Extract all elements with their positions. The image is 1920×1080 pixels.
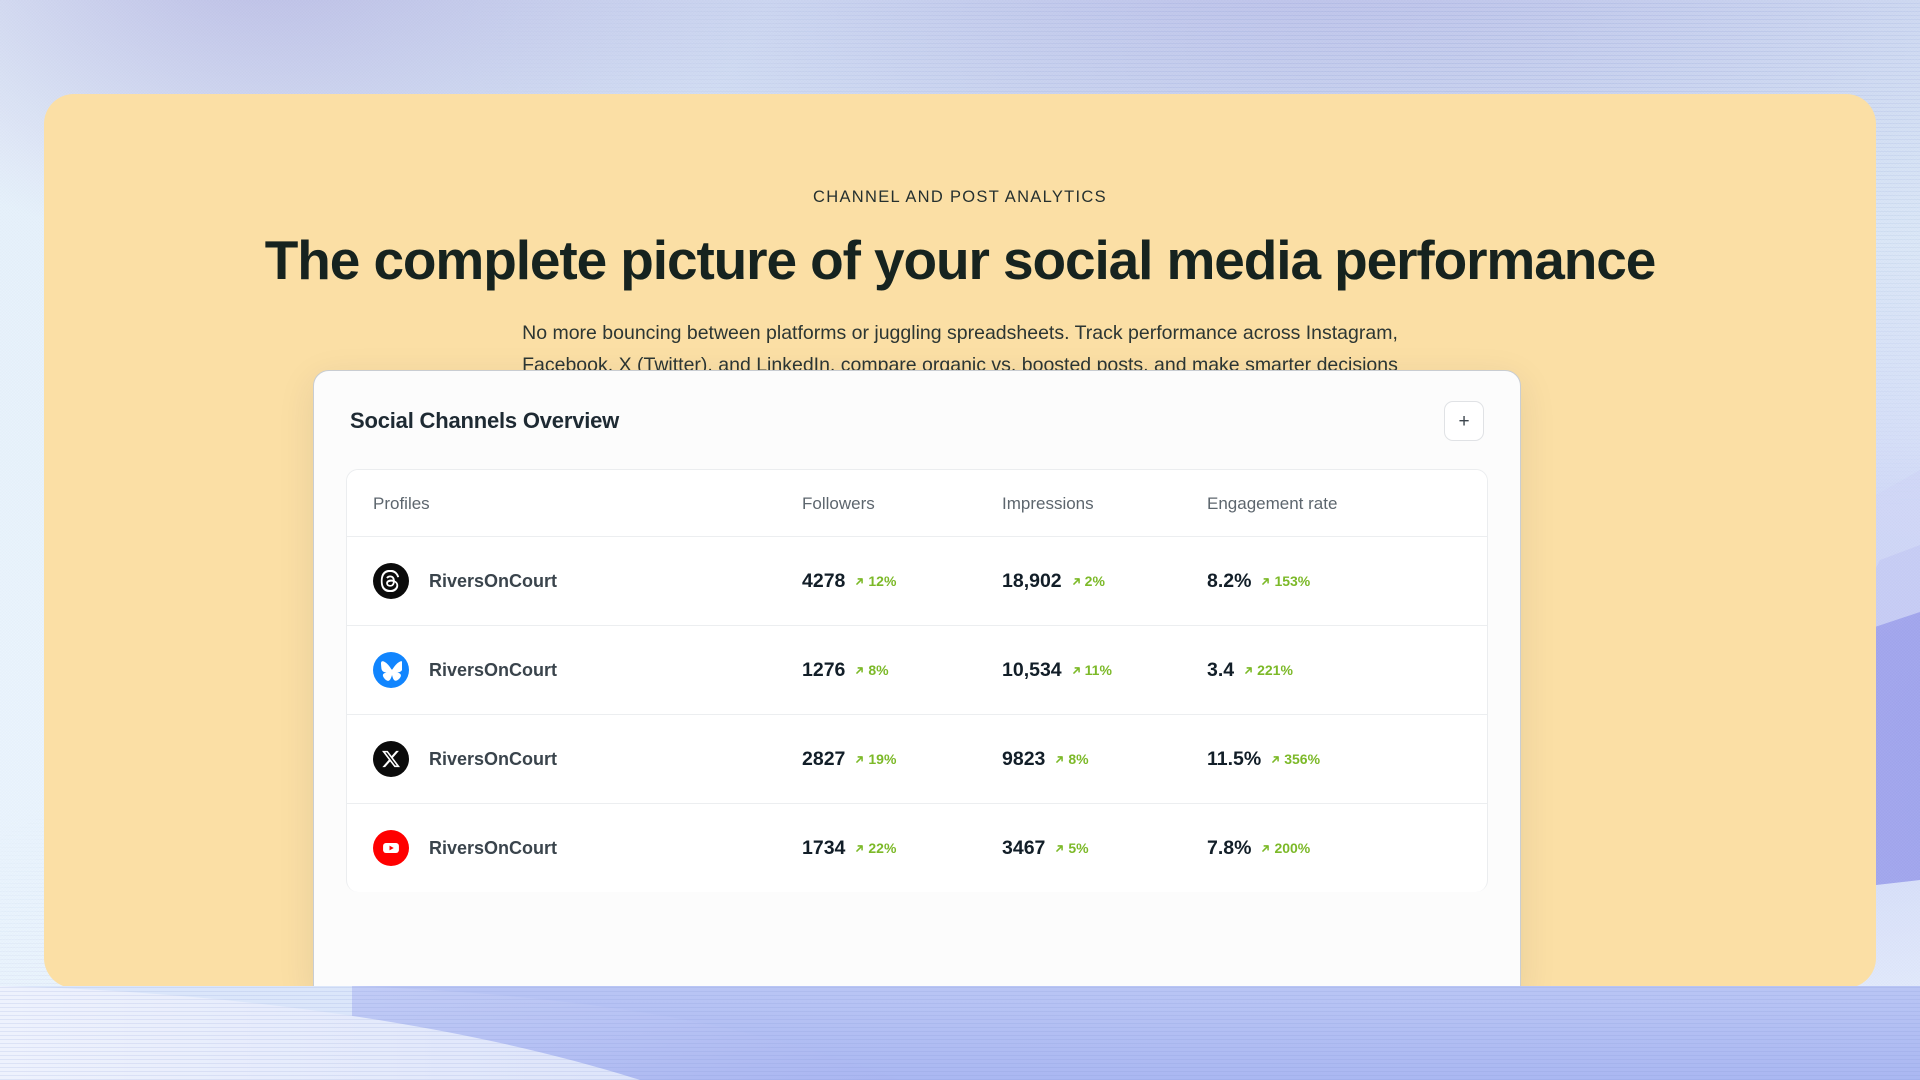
table-header-row: Profiles Followers Impressions Engagemen… xyxy=(347,470,1487,537)
trend-up-icon xyxy=(1054,754,1065,765)
engagement-delta-text: 356% xyxy=(1284,751,1320,767)
trend-up-icon xyxy=(1270,754,1281,765)
engagement-delta-text: 200% xyxy=(1274,840,1310,856)
dashboard-title: Social Channels Overview xyxy=(350,408,619,434)
engagement-delta: 221% xyxy=(1243,662,1293,678)
engagement-delta: 153% xyxy=(1260,573,1310,589)
engagement-value: 11.5% xyxy=(1207,748,1261,771)
profile-name: RiversOnCourt xyxy=(429,660,557,681)
youtube-icon xyxy=(373,830,409,866)
trend-up-icon xyxy=(1071,665,1082,676)
impressions-delta-text: 5% xyxy=(1068,840,1088,856)
impressions-value: 3467 xyxy=(1002,837,1045,860)
add-channel-button[interactable]: + xyxy=(1444,401,1484,441)
table-row[interactable]: RiversOnCourt 4278 12% xyxy=(347,537,1487,626)
followers-delta-text: 8% xyxy=(868,662,888,678)
followers-delta: 8% xyxy=(854,662,888,678)
cell-profile: RiversOnCourt xyxy=(347,715,802,804)
channels-table: Profiles Followers Impressions Engagemen… xyxy=(347,470,1487,892)
page-bottom-decoration xyxy=(0,986,1920,1080)
cell-engagement: 8.2% 153% xyxy=(1207,537,1487,626)
impressions-value: 18,902 xyxy=(1002,570,1062,593)
trend-up-icon xyxy=(1243,665,1254,676)
dashboard-header: Social Channels Overview + xyxy=(314,371,1520,441)
table-head: Profiles Followers Impressions Engagemen… xyxy=(347,470,1487,537)
trend-up-icon xyxy=(854,576,865,587)
impressions-delta-text: 8% xyxy=(1068,751,1088,767)
engagement-delta: 200% xyxy=(1260,840,1310,856)
table-body: RiversOnCourt 4278 12% xyxy=(347,537,1487,893)
cell-profile: RiversOnCourt xyxy=(347,626,802,715)
trend-up-icon xyxy=(854,665,865,676)
page-root: CHANNEL AND POST ANALYTICS The complete … xyxy=(0,0,1920,1080)
cell-impressions: 9823 8% xyxy=(1002,715,1207,804)
channels-table-container: Profiles Followers Impressions Engagemen… xyxy=(346,469,1488,892)
table-row[interactable]: RiversOnCourt 1276 8% xyxy=(347,626,1487,715)
profile-name: RiversOnCourt xyxy=(429,749,557,770)
cell-impressions: 10,534 11% xyxy=(1002,626,1207,715)
dashboard-card: Social Channels Overview + Profiles Foll… xyxy=(313,370,1521,990)
cell-engagement: 11.5% 356% xyxy=(1207,715,1487,804)
followers-value: 1734 xyxy=(802,837,845,860)
followers-delta: 22% xyxy=(854,840,896,856)
trend-up-icon xyxy=(1260,843,1271,854)
cell-profile: RiversOnCourt xyxy=(347,537,802,626)
profile-name: RiversOnCourt xyxy=(429,571,557,592)
followers-delta: 12% xyxy=(854,573,896,589)
impressions-delta: 5% xyxy=(1054,840,1088,856)
cell-followers: 1734 22% xyxy=(802,804,1002,893)
engagement-value: 3.4 xyxy=(1207,659,1234,682)
x-twitter-icon xyxy=(373,741,409,777)
profile-name: RiversOnCourt xyxy=(429,838,557,859)
column-header-impressions: Impressions xyxy=(1002,470,1207,537)
table-row[interactable]: RiversOnCourt 1734 22% xyxy=(347,804,1487,893)
cell-profile: RiversOnCourt xyxy=(347,804,802,893)
cell-followers: 1276 8% xyxy=(802,626,1002,715)
threads-icon xyxy=(373,563,409,599)
cell-followers: 4278 12% xyxy=(802,537,1002,626)
impressions-delta: 2% xyxy=(1071,573,1105,589)
trend-up-icon xyxy=(1260,576,1271,587)
impressions-value: 10,534 xyxy=(1002,659,1062,682)
hero-eyebrow: CHANNEL AND POST ANALYTICS xyxy=(44,188,1876,207)
trend-up-icon xyxy=(1071,576,1082,587)
plus-icon: + xyxy=(1458,412,1469,431)
trend-up-icon xyxy=(854,754,865,765)
impressions-delta-text: 2% xyxy=(1085,573,1105,589)
engagement-delta-text: 221% xyxy=(1257,662,1293,678)
followers-delta: 19% xyxy=(854,751,896,767)
engagement-delta: 356% xyxy=(1270,751,1320,767)
column-header-engagement: Engagement rate xyxy=(1207,470,1487,537)
cell-engagement: 3.4 221% xyxy=(1207,626,1487,715)
table-row[interactable]: RiversOnCourt 2827 19% xyxy=(347,715,1487,804)
followers-delta-text: 19% xyxy=(868,751,896,767)
followers-delta-text: 12% xyxy=(868,573,896,589)
impressions-delta: 8% xyxy=(1054,751,1088,767)
followers-value: 2827 xyxy=(802,748,845,771)
cell-followers: 2827 19% xyxy=(802,715,1002,804)
impressions-delta-text: 11% xyxy=(1085,662,1112,678)
followers-delta-text: 22% xyxy=(868,840,896,856)
engagement-value: 8.2% xyxy=(1207,570,1251,593)
trend-up-icon xyxy=(1054,843,1065,854)
bluesky-icon xyxy=(373,652,409,688)
cell-impressions: 3467 5% xyxy=(1002,804,1207,893)
impressions-value: 9823 xyxy=(1002,748,1045,771)
engagement-value: 7.8% xyxy=(1207,837,1251,860)
cell-impressions: 18,902 2% xyxy=(1002,537,1207,626)
impressions-delta: 11% xyxy=(1071,662,1112,678)
page-title: The complete picture of your social medi… xyxy=(44,231,1876,290)
column-header-profiles: Profiles xyxy=(347,470,802,537)
followers-value: 1276 xyxy=(802,659,845,682)
trend-up-icon xyxy=(854,843,865,854)
followers-value: 4278 xyxy=(802,570,845,593)
cell-engagement: 7.8% 200% xyxy=(1207,804,1487,893)
column-header-followers: Followers xyxy=(802,470,1002,537)
engagement-delta-text: 153% xyxy=(1274,573,1310,589)
